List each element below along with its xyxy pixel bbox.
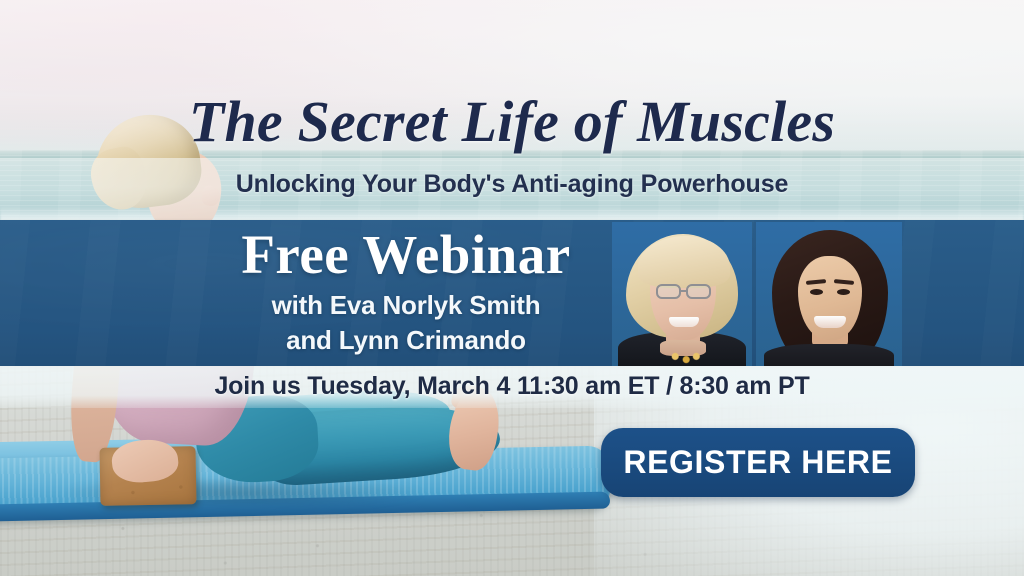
headshot-a-fringe (638, 236, 730, 288)
headshot-a-glasses-right-lens (686, 284, 711, 299)
headshot-a-glasses-bridge (681, 290, 686, 292)
webinar-promo-poster: The Secret Life of Muscles Unlocking You… (0, 0, 1024, 576)
page-subtitle: Unlocking Your Body's Anti-aging Powerho… (0, 170, 1024, 199)
presenter-line-1: with Eva Norlyk Smith (196, 290, 616, 321)
headshot-b-top (764, 344, 894, 366)
headshot-b-eye-right (837, 289, 850, 295)
page-title: The Secret Life of Muscles (0, 88, 1024, 155)
headshot-a-smile (669, 317, 699, 327)
free-webinar-heading: Free Webinar (196, 224, 616, 286)
headshot-a-glasses-left-lens (656, 284, 681, 299)
headshot-b-eye-left (810, 289, 823, 295)
presenter-line-2: and Lynn Crimando (196, 325, 616, 356)
register-here-button[interactable]: REGISTER HERE (601, 428, 915, 497)
headshot-eva-norlyk-smith (612, 222, 752, 366)
headshot-lynn-crimando (756, 222, 902, 366)
band-text-block: Free Webinar with Eva Norlyk Smith and L… (196, 224, 616, 356)
headshot-b-smile (814, 316, 846, 328)
event-date-time: Join us Tuesday, March 4 11:30 am ET / 8… (0, 372, 1024, 401)
headshot-a-gold-necklace (662, 350, 706, 366)
